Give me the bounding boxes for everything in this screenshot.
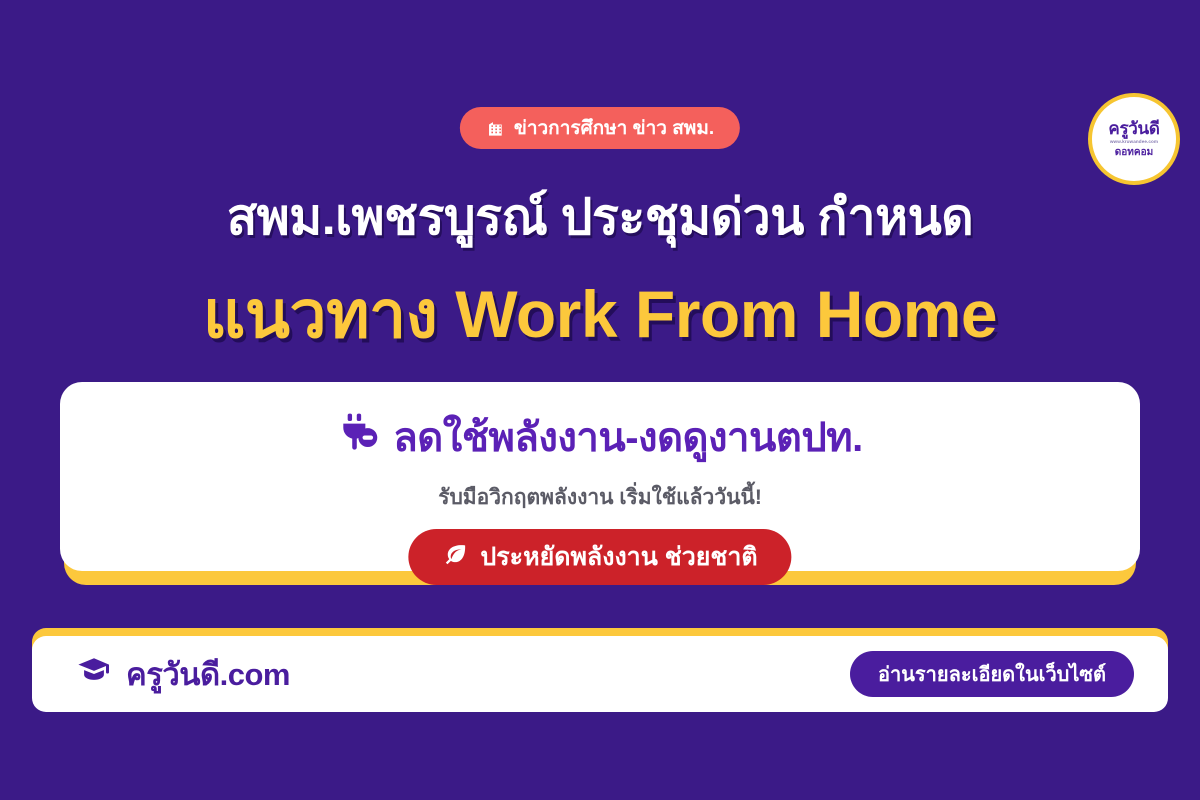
headline-line-2: แนวทาง Work From Home — [0, 262, 1200, 367]
power-plug-off-icon — [337, 411, 379, 463]
logo-badge: ครูวันดี www.kruwandee.com ดอทคอม — [1088, 93, 1180, 185]
headline-line-1: สพม.เพชรบูรณ์ ประชุมด่วน กำหนด — [0, 178, 1200, 257]
card-subtitle: รับมือวิกฤตพลังงาน เริ่มใช้แล้ววันนี้! — [438, 481, 762, 514]
footer-brand[interactable]: ครูวันดี.com — [76, 649, 290, 699]
footer-brand-label: ครูวันดี.com — [126, 649, 290, 699]
category-badge[interactable]: ข่าวการศึกษา ข่าว สพม. — [460, 107, 740, 149]
logo-badge-url: www.kruwandee.com — [1110, 140, 1158, 145]
logo-badge-sub: ดอทคอม — [1115, 148, 1153, 158]
card-title-text: ลดใช้พลังงาน-งดดูงานตปท. — [393, 405, 862, 469]
footer-bar: ครูวันดี.com อ่านรายละเอียดในเว็บไซต์ — [32, 636, 1168, 712]
banner-canvas: ข่าวการศึกษา ข่าว สพม. ครูวันดี www.kruw… — [0, 0, 1200, 800]
card-title-row: ลดใช้พลังงาน-งดดูงานตปท. — [337, 405, 862, 469]
leaf-icon — [442, 541, 468, 574]
logo-badge-brand: ครูวันดี — [1108, 120, 1159, 137]
cta-label: ประหยัดพลังงาน ช่วยชาติ — [480, 537, 757, 577]
cta-pill[interactable]: ประหยัดพลังงาน ช่วยชาติ — [408, 529, 791, 585]
read-details-button[interactable]: อ่านรายละเอียดในเว็บไซต์ — [850, 651, 1134, 697]
school-building-icon — [486, 119, 505, 138]
footer-wrapper: ครูวันดี.com อ่านรายละเอียดในเว็บไซต์ — [32, 628, 1168, 712]
category-badge-label: ข่าวการศึกษา ข่าว สพม. — [514, 113, 714, 143]
graduation-cap-icon — [76, 652, 112, 696]
